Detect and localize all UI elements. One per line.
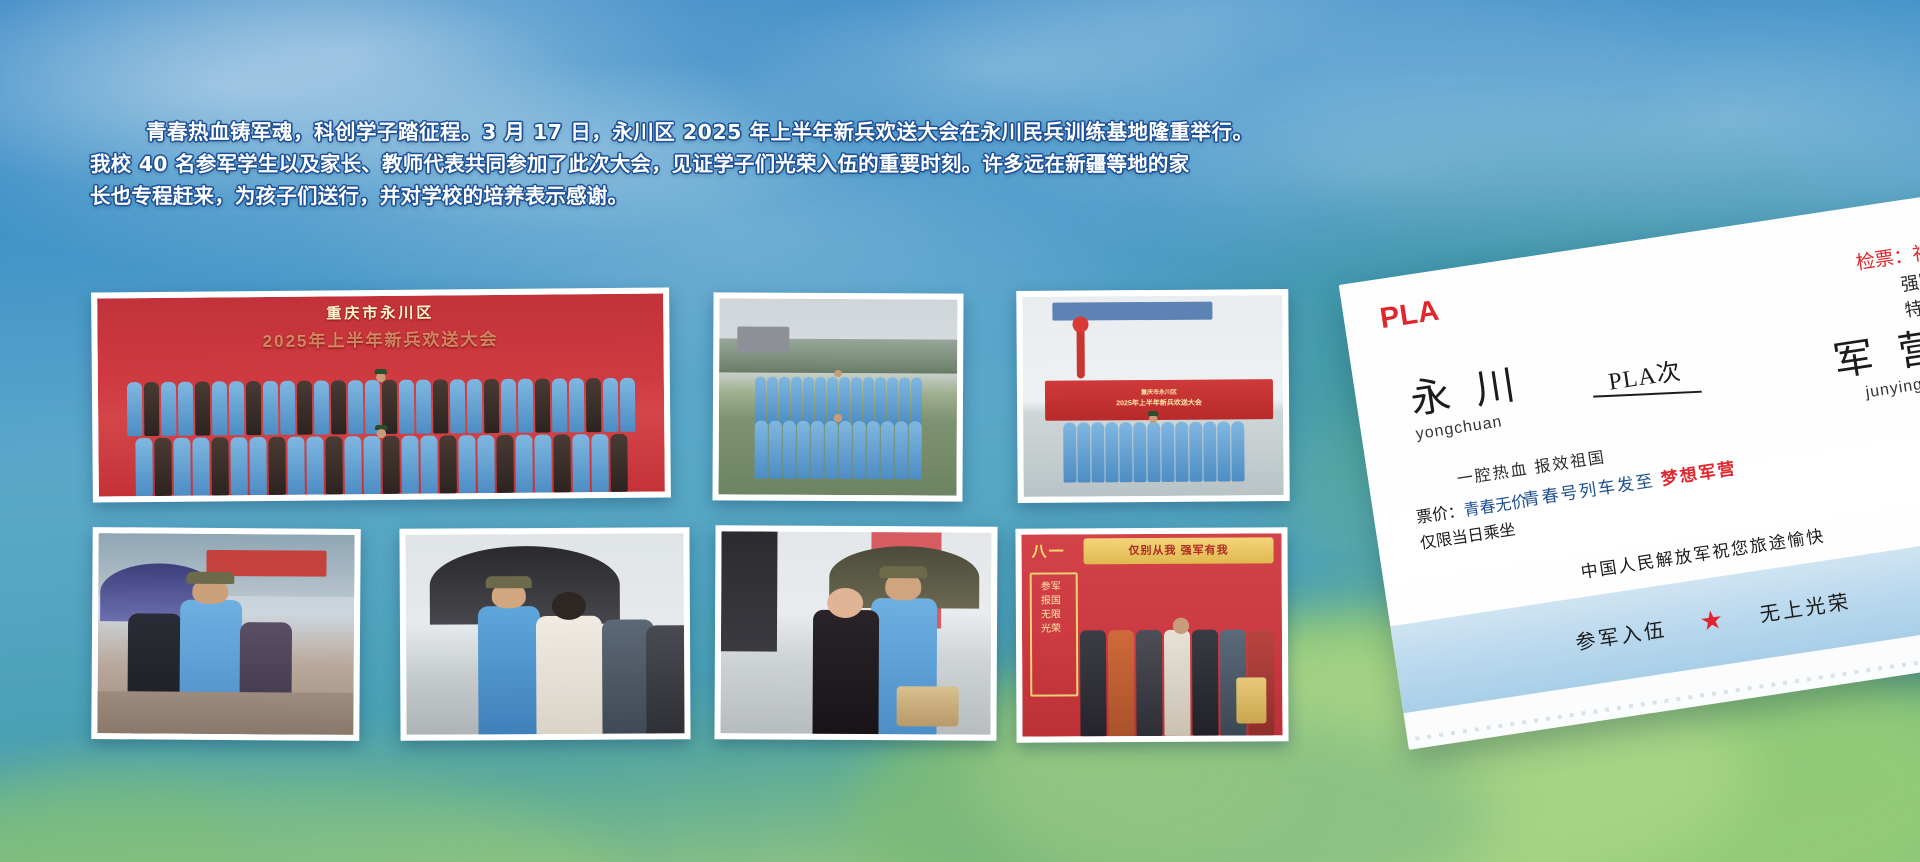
photo-stage-banner[interactable]: 重庆市永川区 2025年上半年新兵欢送大会 (1016, 289, 1289, 503)
person-bystander-2 (646, 625, 685, 735)
photo-inner: 八一 仅别从我 强军有我 参军报国无限光荣 (1021, 533, 1282, 736)
photo-inner (720, 531, 991, 734)
red-star-icon: ★ (1698, 605, 1728, 635)
stage-banner-title: 重庆市永川区 (1045, 386, 1273, 397)
decor-pillar (1236, 677, 1266, 723)
audience-row (1023, 421, 1283, 483)
photo-farewell-umbrella-black[interactable] (399, 527, 690, 741)
photo-inner (718, 298, 957, 495)
ticket-route-prefix: 青春号列车发至 (1522, 471, 1656, 510)
ticket-brand: PLA (1378, 295, 1442, 337)
vertical-couplet: 参军报国无限光荣 (1038, 580, 1064, 636)
ticket-destination-cn: 军 营 (1829, 314, 1920, 388)
photo-inner: 重庆市永川区 2025年上半年新兵欢送大会 (97, 294, 665, 497)
photo-farewell-umbrella-blue[interactable] (91, 527, 360, 741)
photo-recruits-formation[interactable] (712, 292, 963, 501)
recruit-hat (879, 566, 927, 578)
ticket-train-number-block: PLA次 (1588, 349, 1701, 404)
ticket-origin: 永 川 yongchuan (1406, 351, 1528, 444)
ticket-route-destination: 梦想军营 (1660, 459, 1738, 489)
ticket-footer-left: 参军入伍 (1573, 613, 1668, 655)
ticket-check-label: 检票： (1855, 245, 1915, 274)
fruit-basket (897, 686, 959, 726)
ticket-price-value: 青春无价 (1463, 493, 1529, 519)
recruit-hat (186, 572, 234, 584)
stage-banner: 重庆市永川区 2025年上半年新兵欢送大会 (1045, 379, 1273, 421)
ticket-destination: 军 营 junying (1829, 314, 1920, 407)
crowd-row-front (98, 434, 664, 497)
building (737, 326, 789, 352)
ticket-card: PLA 检票：祖国 强军号 特等座 永 川 yongchuan PLA次 军 营… (1339, 189, 1920, 749)
formation-row-2 (719, 420, 957, 479)
article-body: 青春热血铸军魂，科创学子踏征程。3 月 17 日，永川区 2025 年上半年新兵… (90, 118, 1480, 214)
photo-slogan-strip: 仅别从我 强军有我 (1083, 537, 1273, 564)
person-girlfriend (812, 610, 879, 735)
photo-banner-title: 重庆市永川区 (326, 302, 434, 324)
photo-group-ceremony[interactable]: 重庆市永川区 2025年上半年新兵欢送大会 (91, 287, 671, 502)
article-line-2: 我校 40 名参军学生以及家长、教师代表共同参加了此次大会，见证学子们光荣入伍的… (90, 150, 1480, 179)
train-ticket[interactable]: PLA 检票：祖国 强军号 特等座 永 川 yongchuan PLA次 军 营… (1339, 189, 1920, 749)
photo-couple-embrace[interactable] (714, 525, 997, 740)
photo-banner-subtitle: 2025年上半年新兵欢送大会 (262, 325, 498, 352)
photo-inner (97, 533, 354, 735)
photo-inner: 重庆市永川区 2025年上半年新兵欢送大会 (1022, 295, 1283, 497)
mother-head (552, 592, 586, 620)
ticket-check-block: 检票：祖国 强军号 特等座 (1854, 237, 1920, 329)
person-recruit (478, 606, 541, 735)
person-mother (536, 616, 603, 735)
photo-inner (405, 533, 684, 734)
dark-post (721, 531, 778, 651)
ticket-footer-right: 无上光荣 (1757, 585, 1852, 627)
recruit-hat (486, 576, 532, 588)
article-line-1: 青春热血铸军魂，科创学子踏征程。3 月 17 日，永川区 2025 年上半年新兵… (90, 118, 1480, 147)
photo-badge-bayi: 八一 (1032, 540, 1072, 562)
ground (97, 691, 353, 735)
article-line-3: 长也专程赶来，为孩子们送行，并对学校的培养表示感谢。 (90, 182, 1480, 211)
photo-family-group-photo[interactable]: 八一 仅别从我 强军有我 参军报国无限光荣 (1015, 527, 1288, 742)
girlfriend-head (827, 588, 863, 618)
flag-top (1072, 316, 1088, 332)
stage-banner-subtitle: 2025年上半年新兵欢送大会 (1045, 397, 1273, 409)
